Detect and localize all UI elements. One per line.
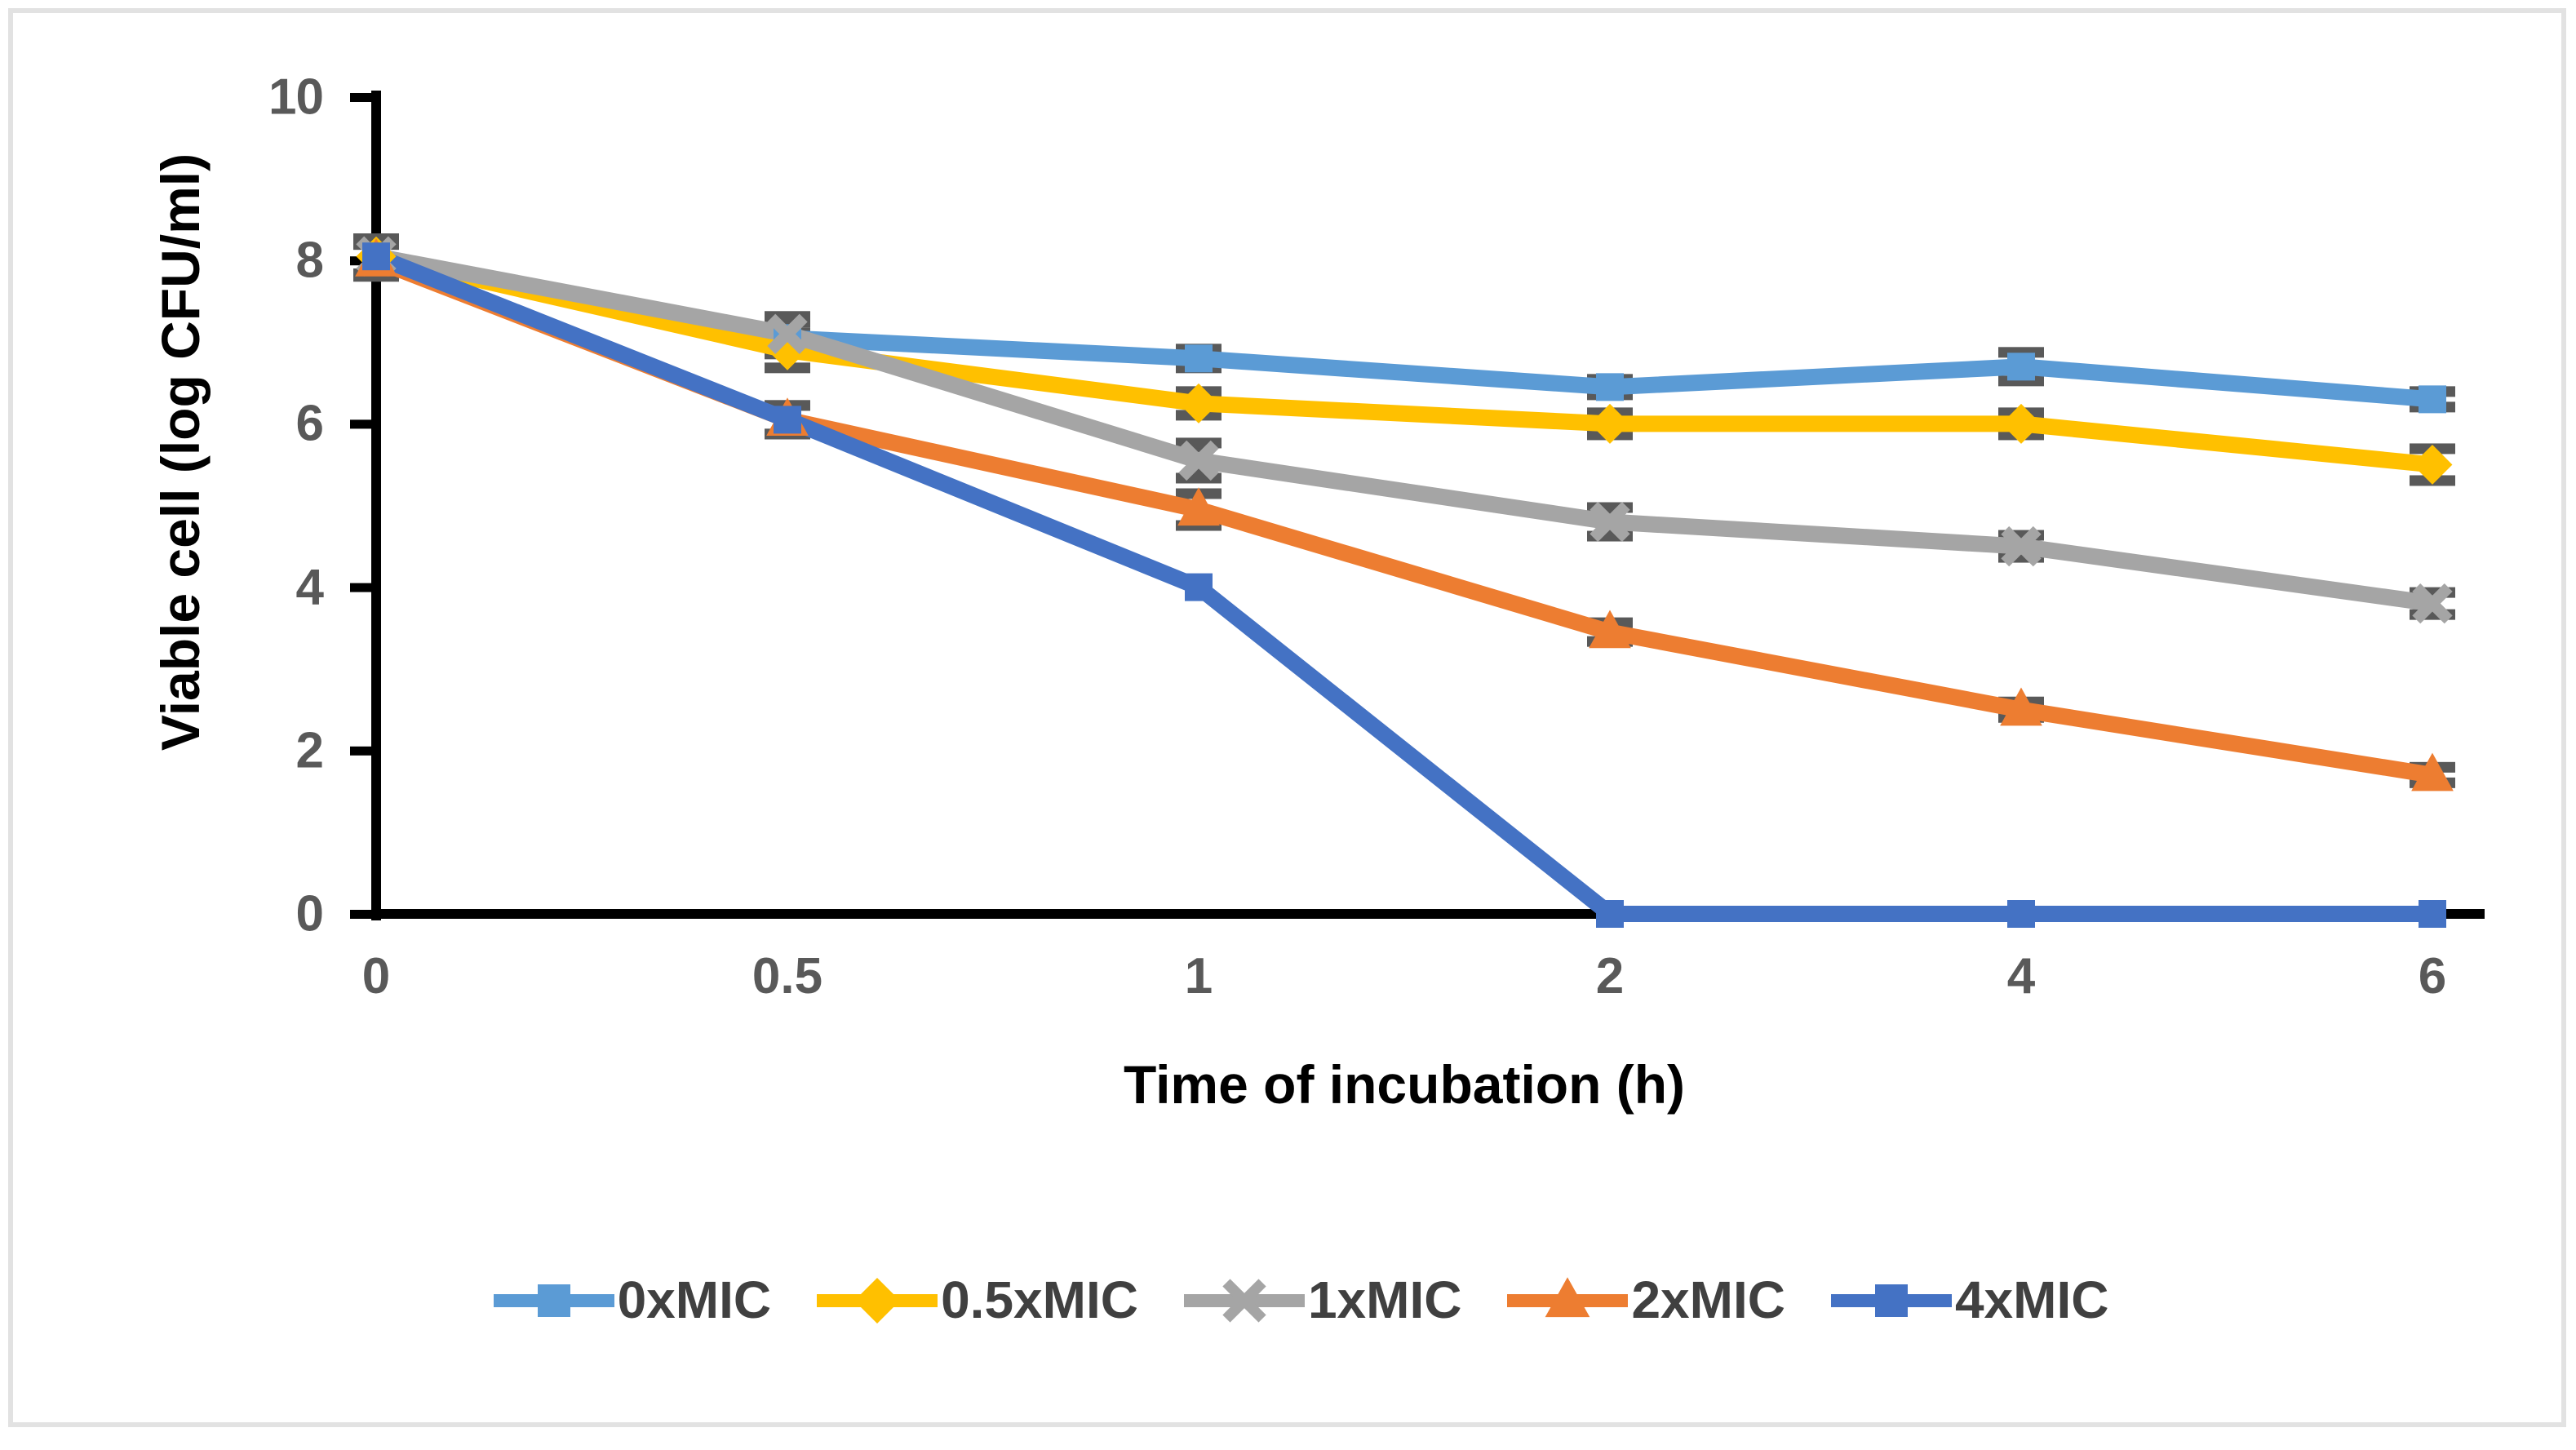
data-point-marker bbox=[774, 406, 801, 433]
legend-item-0-5xMIC[interactable]: 0.5xMIC bbox=[817, 1270, 1138, 1330]
series-line-0-5xMIC bbox=[376, 256, 2432, 464]
chart-page: Viable cell (log CFU/ml) 1086420 00.5124… bbox=[0, 0, 2576, 1437]
legend-item-label: 4xMIC bbox=[1955, 1270, 2109, 1330]
y-tick-mark bbox=[350, 910, 376, 919]
legend-key-svg bbox=[494, 1275, 614, 1325]
data-point-marker bbox=[2007, 900, 2035, 928]
legend-item-label: 2xMIC bbox=[1631, 1270, 1785, 1330]
data-point-marker bbox=[362, 242, 390, 270]
legend-marker-icon bbox=[817, 1275, 938, 1325]
x-tick-label: 1 bbox=[1185, 947, 1213, 1005]
chart-frame: Viable cell (log CFU/ml) 1086420 00.5124… bbox=[8, 8, 2566, 1427]
data-point-marker bbox=[2419, 900, 2446, 928]
legend-item-4xMIC[interactable]: 4xMIC bbox=[1831, 1270, 2109, 1330]
legend-marker-icon bbox=[1831, 1275, 1952, 1325]
y-tick-mark bbox=[350, 93, 376, 102]
data-point-marker bbox=[2419, 385, 2446, 413]
x-tick-label: 4 bbox=[2007, 947, 2035, 1005]
data-point-marker bbox=[2007, 353, 2035, 380]
legend-diamond-icon bbox=[854, 1278, 900, 1324]
x-tick-label: 0 bbox=[362, 947, 390, 1005]
legend-item-label: 1xMIC bbox=[1308, 1270, 1462, 1330]
legend-marker-icon bbox=[1507, 1275, 1628, 1325]
legend-square-icon bbox=[538, 1284, 570, 1317]
data-point-marker bbox=[1596, 373, 1624, 401]
series-line-2xMIC bbox=[376, 260, 2432, 775]
data-point-marker bbox=[1596, 900, 1624, 928]
data-point-marker bbox=[1185, 574, 1213, 601]
legend-key-svg bbox=[1831, 1275, 1952, 1325]
x-tick-label: 0.5 bbox=[752, 947, 822, 1005]
legend-marker-icon bbox=[494, 1275, 614, 1325]
legend-item-0xMIC[interactable]: 0xMIC bbox=[494, 1270, 772, 1330]
legend-item-1xMIC[interactable]: 1xMIC bbox=[1184, 1270, 1462, 1330]
y-tick-mark bbox=[350, 747, 376, 756]
legend-key-svg bbox=[1507, 1275, 1628, 1325]
legend-square-icon bbox=[1875, 1284, 1908, 1317]
legend-item-label: 0xMIC bbox=[618, 1270, 772, 1330]
chart-legend: 0xMIC0.5xMIC1xMIC2xMIC4xMIC bbox=[13, 1270, 2576, 1330]
legend-item-2xMIC[interactable]: 2xMIC bbox=[1507, 1270, 1785, 1330]
y-tick-mark bbox=[350, 583, 376, 592]
legend-marker-icon bbox=[1184, 1275, 1305, 1325]
x-axis-title: Time of incubation (h) bbox=[376, 1053, 2432, 1115]
y-tick-mark bbox=[350, 419, 376, 428]
x-tick-label: 2 bbox=[1596, 947, 1624, 1005]
x-tick-label: 6 bbox=[2419, 947, 2446, 1005]
series-line-4xMIC bbox=[376, 256, 2432, 914]
legend-item-label: 0.5xMIC bbox=[941, 1270, 1138, 1330]
legend-key-svg bbox=[1184, 1275, 1305, 1325]
legend-key-svg bbox=[817, 1275, 938, 1325]
chart-plot bbox=[13, 13, 2576, 1450]
data-point-marker bbox=[1185, 344, 1213, 372]
